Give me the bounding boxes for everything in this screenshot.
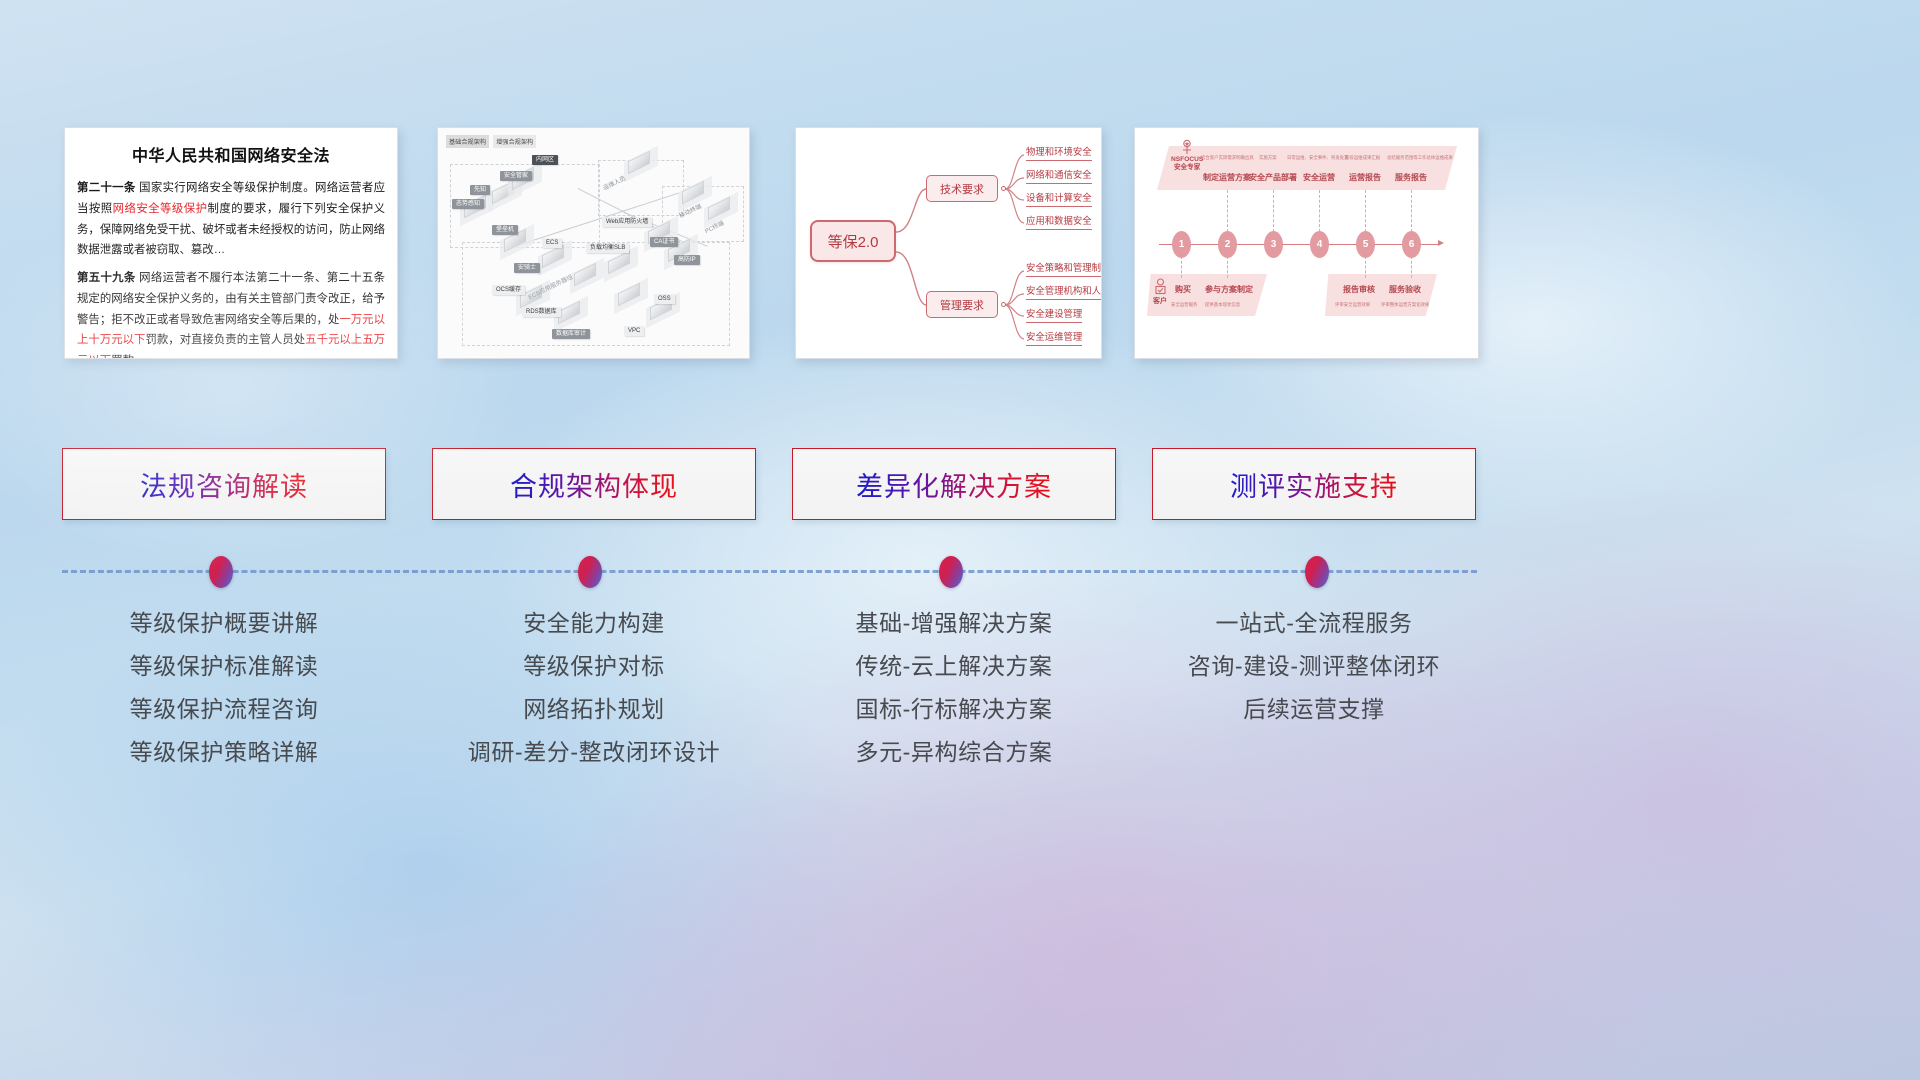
mindmap-connectors xyxy=(796,128,1101,358)
roadmap-top-label-1: 制定运营方案 xyxy=(1203,172,1251,183)
roadmap-axis xyxy=(1159,244,1439,245)
mindmap-leaf-device-computing: 设备和计算安全 xyxy=(1026,192,1092,207)
architecture-node-internal-zone: 内网区 xyxy=(532,154,558,163)
list-item: 国标-行标解决方案 xyxy=(792,688,1116,731)
law-article-21: 第二十一条 国家实行网络安全等级保护制度。网络运营者应当按照网络安全等级保护制度… xyxy=(77,178,385,261)
timeline xyxy=(0,552,1920,592)
roadmap-step-6: 6 xyxy=(1402,231,1421,258)
detail-lists: 等级保护概要讲解 等级保护标准解读 等级保护流程咨询 等级保护策略详解 安全能力… xyxy=(0,602,1920,802)
mindmap: 等保2.0 技术要求 物理和环境安全 网络和通信安全 xyxy=(796,128,1101,358)
headline-label-4: 测评实施支持 xyxy=(1230,465,1398,504)
mindmap-branch-technical: 技术要求 xyxy=(926,175,998,202)
roadmap-step-1: 1 xyxy=(1172,231,1191,258)
roadmap-step-3: 3 xyxy=(1264,231,1283,258)
timeline-dot-3[interactable] xyxy=(939,556,963,588)
timeline-dashed-line xyxy=(62,570,1477,573)
roadmap-dash-8 xyxy=(1411,190,1412,232)
headline-box-compliance-architecture[interactable]: 合规架构体现 xyxy=(432,448,756,520)
architecture-node-bastion-host: 堡垒机 xyxy=(492,224,518,233)
law-article-21-label: 第二十一条 xyxy=(77,182,136,194)
architecture-node-waf: Web应用防火墙 xyxy=(602,216,652,225)
roadmap-dash-2 xyxy=(1227,190,1228,232)
card-cybersecurity-law[interactable]: 中华人民共和国网络安全法 第二十一条 国家实行网络安全等级保护制度。网络运营者应… xyxy=(64,127,398,359)
mindmap-leaf-security-org-personnel: 安全管理机构和人员 xyxy=(1026,285,1102,300)
architecture-node-security-butler: 安全管家 xyxy=(500,170,532,179)
roadmap-bottom-sub-2: 提供基本现状信息 xyxy=(1205,302,1240,308)
roadmap-top-sub-4: 阶段运维成果汇报 xyxy=(1345,155,1380,161)
law-article-59-text-c: 罚款。 xyxy=(111,355,145,359)
headline-box-regulation-consulting[interactable]: 法规咨询解读 xyxy=(62,448,386,520)
roadmap-dash-9 xyxy=(1411,256,1412,278)
roadmap-customer-label: 客户 xyxy=(1153,296,1167,306)
roadmap-bottom-label-1: 购买 xyxy=(1175,284,1191,295)
architecture-node-foresight: 先知 xyxy=(470,184,490,193)
roadmap-band-customer-right xyxy=(1325,274,1437,316)
mindmap-leaf-security-construction: 安全建设管理 xyxy=(1026,308,1082,323)
list-item: 等级保护策略详解 xyxy=(62,731,386,774)
roadmap-dash-6 xyxy=(1365,190,1366,232)
roadmap-step-4: 4 xyxy=(1310,231,1329,258)
list-item: 传统-云上解决方案 xyxy=(792,645,1116,688)
timeline-dot-4[interactable] xyxy=(1305,556,1329,588)
roadmap-step-2: 2 xyxy=(1218,231,1237,258)
headline-label-3: 差异化解决方案 xyxy=(856,465,1052,504)
roadmap-bottom-sub-1: 安全运营服务 xyxy=(1171,302,1197,308)
law-title: 中华人民共和国网络安全法 xyxy=(65,142,397,166)
slide-root: 中华人民共和国网络安全法 第二十一条 国家实行网络安全等级保护制度。网络运营者应… xyxy=(0,0,1920,1080)
mindmap-node-dot-management xyxy=(1001,302,1006,307)
law-body: 第二十一条 国家实行网络安全等级保护制度。网络运营者应当按照网络安全等级保护制度… xyxy=(65,178,397,359)
architecture-node-oss: OSS xyxy=(654,296,675,302)
architecture-node-ecs: ECS xyxy=(542,240,562,246)
list-item: 安全能力构建 xyxy=(432,602,756,645)
list-item: 等级保护概要讲解 xyxy=(62,602,386,645)
roadmap-top-sub-5: 总结服务范围等工作总体运维成果 xyxy=(1387,155,1453,161)
roadmap-top-label-2: 安全产品部署 xyxy=(1249,172,1297,183)
roadmap-dash-1 xyxy=(1181,256,1182,278)
architecture-tabs: 基础合规架构 增强合规架构 xyxy=(446,135,536,148)
roadmap-bottom-label-4: 服务验收 xyxy=(1389,284,1421,295)
roadmap: NSFOCUS安全专家 客户 xyxy=(1135,128,1478,358)
roadmap-dash-7 xyxy=(1365,256,1366,278)
architecture-tab-basic[interactable]: 基础合规架构 xyxy=(446,135,489,148)
timeline-dot-1[interactable] xyxy=(209,556,233,588)
list-item: 等级保护对标 xyxy=(432,645,756,688)
roadmap-dash-4 xyxy=(1273,190,1274,232)
list-item: 后续运营支撑 xyxy=(1152,688,1476,731)
roadmap-top-sub-3: 日常运维、安全事件、突发处置 xyxy=(1287,155,1348,161)
list-item: 一站式-全流程服务 xyxy=(1152,602,1476,645)
mindmap-leaf-application-data: 应用和数据安全 xyxy=(1026,215,1092,230)
list-item: 网络拓扑规划 xyxy=(432,688,756,731)
architecture-node-vpc: VPC xyxy=(624,328,644,334)
mindmap-leaf-physical-environment: 物理和环境安全 xyxy=(1026,146,1092,161)
roadmap-bottom-label-3: 报告审核 xyxy=(1343,284,1375,295)
customer-icon xyxy=(1153,278,1168,295)
headline-box-assessment-support[interactable]: 测评实施支持 xyxy=(1152,448,1476,520)
list-item: 基础-增强解决方案 xyxy=(792,602,1116,645)
headline-label-2: 合规架构体现 xyxy=(510,465,678,504)
roadmap-dash-3 xyxy=(1227,256,1228,278)
architecture-tab-enhanced[interactable]: 增强合规架构 xyxy=(493,135,536,148)
roadmap-top-sub-2: 实施方案 xyxy=(1259,155,1277,161)
headline-row: 法规咨询解读 合规架构体现 差异化解决方案 测评实施支持 xyxy=(0,448,1920,524)
architecture-node-database-audit: 数据库审计 xyxy=(552,328,590,337)
law-article-59-text-b: 罚款，对直接负责的主管人员处 xyxy=(145,334,305,346)
roadmap-bottom-label-2: 参与方案制定 xyxy=(1205,284,1253,295)
roadmap-axis-arrow-icon xyxy=(1438,240,1444,246)
roadmap-top-label-5: 服务报告 xyxy=(1395,172,1427,183)
list-item: 等级保护标准解读 xyxy=(62,645,386,688)
roadmap-top-label-3: 安全运营 xyxy=(1303,172,1335,183)
mindmap-leaf-security-operations: 安全运维管理 xyxy=(1026,331,1082,346)
roadmap-bottom-sub-3: 评审安全运营效果 xyxy=(1335,302,1370,308)
timeline-dot-2[interactable] xyxy=(578,556,602,588)
architecture-node-ca-certificate: CA证书 xyxy=(650,236,678,245)
architecture-node-slb: 负载均衡SLB xyxy=(586,242,629,251)
architecture-node-anti-ddos-ip: 高防IP xyxy=(674,254,700,263)
roadmap-step-5: 5 xyxy=(1356,231,1375,258)
reference-cards-row: 中华人民共和国网络安全法 第二十一条 国家实行网络安全等级保护制度。网络运营者应… xyxy=(0,127,1920,359)
detail-list-4: 一站式-全流程服务 咨询-建设-测评整体闭环 后续运营支撑 xyxy=(1152,602,1476,731)
architecture-diagram: 基础合规架构 增强合规架构 xyxy=(438,128,749,358)
card-service-roadmap[interactable]: NSFOCUS安全专家 客户 xyxy=(1134,127,1479,359)
detail-list-2: 安全能力构建 等级保护对标 网络拓扑规划 调研-差分-整改闭环设计 xyxy=(432,602,756,774)
mindmap-leaf-security-policy: 安全策略和管理制度 xyxy=(1026,262,1102,277)
headline-label-1: 法规咨询解读 xyxy=(140,465,308,504)
roadmap-bottom-sub-4: 评审整体运营方案化效果 xyxy=(1381,302,1429,308)
architecture-node-ocs-cache: OCS缓存 xyxy=(492,284,525,293)
mindmap-branch-management: 管理要求 xyxy=(926,291,998,318)
law-article-59: 第五十九条 网络运营者不履行本法第二十一条、第二十五条规定的网络安全保护义务的，… xyxy=(77,268,385,359)
list-item: 咨询-建设-测评整体闭环 xyxy=(1152,645,1476,688)
list-item: 等级保护流程咨询 xyxy=(62,688,386,731)
card-dengbao-mindmap[interactable]: 等保2.0 技术要求 物理和环境安全 网络和通信安全 xyxy=(795,127,1102,359)
roadmap-provider-label: NSFOCUS安全专家 xyxy=(1171,156,1203,172)
architecture-node-anqishi: 安骑士 xyxy=(514,262,540,271)
detail-list-3: 基础-增强解决方案 传统-云上解决方案 国标-行标解决方案 多元-异构综合方案 xyxy=(792,602,1116,774)
card-cloud-architecture[interactable]: 基础合规架构 增强合规架构 xyxy=(437,127,750,359)
law-article-59-label: 第五十九条 xyxy=(77,272,136,284)
detail-list-1: 等级保护概要讲解 等级保护标准解读 等级保护流程咨询 等级保护策略详解 xyxy=(62,602,386,774)
list-item: 调研-差分-整改闭环设计 xyxy=(432,731,756,774)
roadmap-top-sub-1: 结合客户实际需求明确出具 xyxy=(1201,155,1254,161)
mindmap-leaf-network-communication: 网络和通信安全 xyxy=(1026,169,1092,184)
mindmap-node-dot-technical xyxy=(1001,186,1006,191)
roadmap-dash-5 xyxy=(1319,190,1320,232)
security-expert-icon xyxy=(1179,139,1195,157)
roadmap-top-label-4: 运营报告 xyxy=(1349,172,1381,183)
architecture-node-rds-database: RDS数据库 xyxy=(522,306,561,315)
headline-box-differentiated-solution[interactable]: 差异化解决方案 xyxy=(792,448,1116,520)
architecture-node-situational-awareness: 态势感知 xyxy=(452,198,484,207)
law-article-21-highlight: 网络安全等级保护 xyxy=(113,203,208,215)
list-item: 多元-异构综合方案 xyxy=(792,731,1116,774)
